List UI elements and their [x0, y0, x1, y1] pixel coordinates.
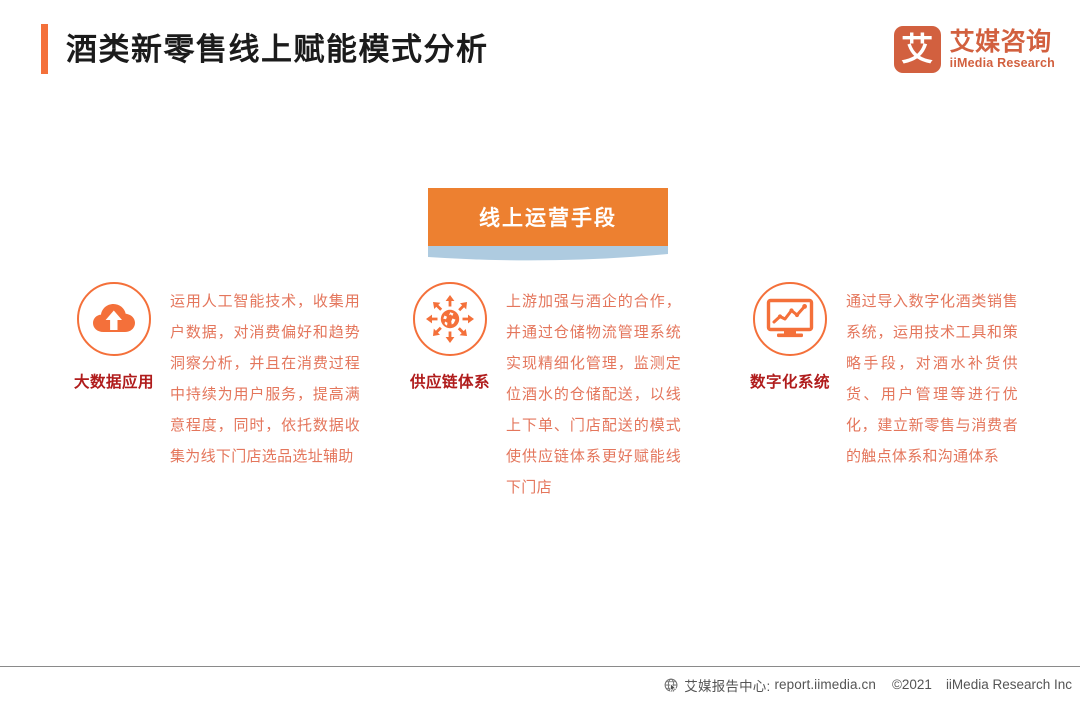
cloud-upload-icon — [77, 282, 151, 356]
column-icon-block: 大数据应用 — [58, 282, 170, 392]
page-title: 酒类新零售线上赋能模式分析 — [66, 34, 489, 65]
logo-name-cn: 艾媒咨询 — [950, 28, 1055, 56]
page-footer: 艾媒报告中心: report.iimedia.cn ©2021 iiMedia … — [0, 666, 1080, 702]
footer-copyright: ©2021 — [892, 677, 932, 692]
column-label: 供应链体系 — [410, 370, 490, 392]
globe-network-icon — [413, 282, 487, 356]
brand-logo: 艾 艾媒咨询 iiMedia Research — [894, 26, 1055, 73]
banner-wrap: 线上运营手段 — [428, 188, 668, 264]
column-icon-block: 供应链体系 — [394, 282, 506, 392]
column-digital-system: 数字化系统 通过导入数字化酒类销售系统，运用技术工具和策略手段，对酒水补货供货、… — [734, 282, 1024, 503]
footer-organization: iiMedia Research Inc — [946, 677, 1072, 692]
title-accent-bar — [41, 24, 48, 74]
column-supply-chain: 供应链体系 上游加强与酒企的合作，并通过仓储物流管理系统实现精细化管理，监测定位… — [394, 282, 694, 503]
logo-text: 艾媒咨询 iiMedia Research — [950, 28, 1055, 71]
column-body-text: 上游加强与酒企的合作，并通过仓储物流管理系统实现精细化管理，监测定位酒水的仓储配… — [506, 282, 681, 503]
logo-name-en: iiMedia Research — [950, 57, 1055, 71]
banner-shadow — [428, 246, 668, 264]
column-label: 大数据应用 — [74, 370, 154, 392]
banner-label: 线上运营手段 — [479, 202, 617, 232]
column-body-text: 通过导入数字化酒类销售系统，运用技术工具和策略手段，对酒水补货供货、用户管理等进… — [846, 282, 1018, 472]
columns-container: 大数据应用 运用人工智能技术，收集用户数据，对消费偏好和趋势洞察分析，并且在消费… — [0, 282, 1080, 503]
footer-url[interactable]: report.iimedia.cn — [774, 677, 876, 692]
monitor-chart-icon — [753, 282, 827, 356]
column-body-text: 运用人工智能技术，收集用户数据，对消费偏好和趋势洞察分析，并且在消费过程中持续为… — [170, 282, 360, 472]
page-title-wrap: 酒类新零售线上赋能模式分析 — [41, 24, 489, 74]
column-icon-block: 数字化系统 — [734, 282, 846, 392]
footer-report-center-label: 艾媒报告中心: — [684, 675, 770, 695]
online-operation-banner: 线上运营手段 — [428, 188, 668, 246]
footer-content: 艾媒报告中心: report.iimedia.cn ©2021 iiMedia … — [664, 675, 1072, 695]
logo-mark-glyph: 艾 — [894, 26, 941, 73]
column-label: 数字化系统 — [750, 370, 830, 392]
column-big-data: 大数据应用 运用人工智能技术，收集用户数据，对消费偏好和趋势洞察分析，并且在消费… — [58, 282, 368, 503]
globe-cursor-icon — [664, 678, 679, 693]
page-header: 酒类新零售线上赋能模式分析 艾 艾媒咨询 iiMedia Research — [0, 0, 1080, 108]
logo-mark-icon: 艾 — [894, 26, 941, 73]
